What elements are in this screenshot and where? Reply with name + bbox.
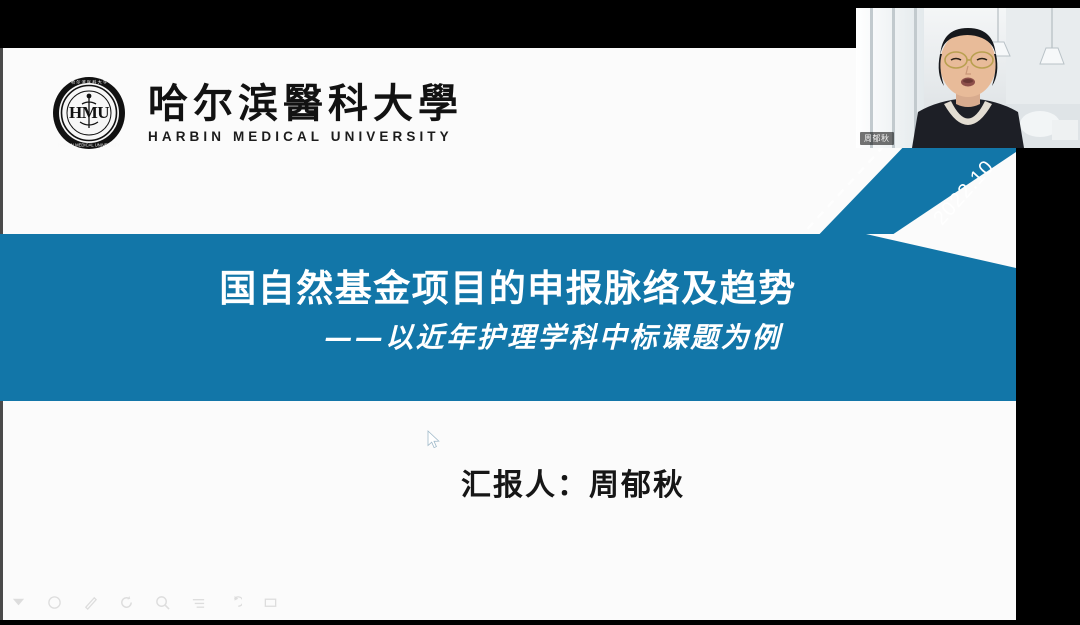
mouse-cursor — [427, 430, 441, 450]
presenter-label: 汇报人：周郁秋 — [0, 460, 1016, 504]
title-band: 国自然基金项目的申报脉络及趋势 ——以近年护理学科中标课题为例 — [0, 234, 1016, 401]
undo-tool-icon[interactable] — [224, 592, 244, 612]
svg-text:HMU: HMU — [69, 103, 109, 122]
slide-title: 国自然基金项目的申报脉络及趋势 — [219, 267, 797, 311]
eraser-tool-icon[interactable] — [116, 592, 136, 612]
shape-tool-icon[interactable] — [152, 592, 172, 612]
wordmark-chinese: 哈尔滨醫科大學 — [148, 83, 463, 125]
select-tool-icon[interactable] — [8, 592, 28, 612]
university-wordmark: 哈尔滨醫科大學 HARBIN MEDICAL UNIVERSITY — [148, 83, 463, 144]
hmu-seal-icon: HMU 哈 尔 滨 医 科 大 学 HARBIN MEDICAL UNIVERS… — [52, 76, 126, 150]
svg-text:HARBIN MEDICAL UNIVERSITY: HARBIN MEDICAL UNIVERSITY — [58, 143, 120, 148]
corner-date-label: 2022.10 — [929, 156, 999, 230]
webcam-pip[interactable]: 周郁秋 — [856, 8, 1080, 148]
title-text-group: 国自然基金项目的申报脉络及趋势 ——以近年护理学科中标课题为例 — [0, 234, 1016, 401]
pen-tool-icon[interactable] — [44, 592, 64, 612]
participant-name-label: 周郁秋 — [860, 132, 894, 145]
clear-tool-icon[interactable] — [260, 592, 280, 612]
annotation-toolbar[interactable] — [8, 592, 280, 612]
svg-text:哈 尔 滨 医 科 大 学: 哈 尔 滨 医 科 大 学 — [71, 79, 107, 86]
university-logo-lockup: HMU 哈 尔 滨 医 科 大 学 HARBIN MEDICAL UNIVERS… — [52, 76, 463, 150]
wordmark-english: HARBIN MEDICAL UNIVERSITY — [148, 129, 463, 144]
webcam-video-frame — [856, 8, 1080, 148]
text-tool-icon[interactable] — [188, 592, 208, 612]
highlighter-tool-icon[interactable] — [80, 592, 100, 612]
screen-share-view: 2022.10 HMU 哈 尔 滨 医 科 大 学 HARBIN MEDICAL… — [0, 0, 1080, 625]
slide-subtitle: ——以近年护理学科中标课题为例 — [234, 321, 782, 355]
